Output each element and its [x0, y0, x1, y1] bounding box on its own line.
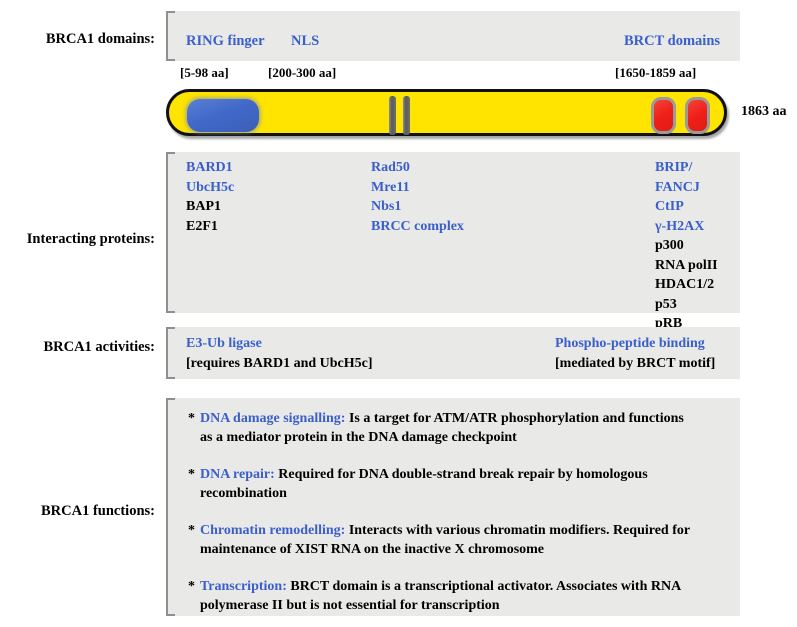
activity-title: E3-Ub ligase: [186, 334, 373, 354]
protein-item: Mre11: [371, 178, 464, 198]
function-bullet-marker: *: [188, 577, 195, 596]
protein-item: CtIP: [655, 197, 718, 217]
protein-item: γ-H2AX: [655, 217, 718, 237]
function-transcription: * Transcription: BRCT domain is a transc…: [188, 577, 723, 615]
function-title: Transcription:: [200, 579, 287, 594]
protein-item: Nbs1: [371, 197, 464, 217]
function-bullet-marker: *: [188, 409, 195, 428]
panel-bracket-functions: [166, 398, 175, 616]
panel-bracket-activities: [166, 327, 175, 379]
ring-finger-domain-shape: [187, 99, 259, 132]
activity-detail: [requires BARD1 and UbcH5c]: [186, 354, 373, 374]
function-chromatin-remodelling: * Chromatin remodelling: Interacts with …: [188, 521, 723, 559]
protein-item: FANCJ: [655, 178, 718, 198]
aa-range-brct: [1650-1859 aa]: [615, 65, 696, 81]
activity-title: Phospho-peptide binding: [555, 334, 715, 354]
function-bullet-marker: *: [188, 465, 195, 484]
function-title: DNA damage signalling:: [200, 411, 345, 426]
row-label-interacting-proteins: Interacting proteins:: [27, 231, 155, 248]
function-title: Chromatin remodelling:: [200, 523, 345, 538]
protein-item: BAP1: [186, 197, 234, 217]
protein-item: BARD1: [186, 158, 234, 178]
protein-item: HDAC1/2: [655, 275, 718, 295]
activity-detail: [mediated by BRCT motif]: [555, 354, 715, 374]
row-label-domains: BRCA1 domains:: [46, 31, 155, 48]
brca1-activities-panel: E3-Ub ligase [requires BARD1 and UbcH5c]…: [166, 327, 740, 379]
domain-name-brct: BRCT domains: [624, 33, 720, 50]
function-text-line2: polymerase II but is not essential for t…: [200, 598, 500, 613]
brca1-protein-backbone: [166, 89, 727, 136]
domain-name-ring-finger: RING finger: [186, 33, 265, 50]
function-text-line1: Required for DNA double-strand break rep…: [275, 467, 648, 482]
function-text-line2: recombination: [200, 486, 287, 501]
protein-column-1: BARD1 UbcH5c BAP1 E2F1: [186, 158, 234, 236]
aa-range-ring-finger: [5-98 aa]: [180, 65, 229, 81]
function-text-line1: Interacts with various chromatin modifie…: [345, 523, 690, 538]
function-text-line1: Is a target for ATM/ATR phosphorylation …: [345, 411, 683, 426]
protein-item: E2F1: [186, 217, 234, 237]
panel-bracket-interacting-proteins: [166, 152, 175, 313]
brca1-functions-panel: * DNA damage signalling: Is a target for…: [166, 398, 740, 616]
protein-column-2: Rad50 Mre11 Nbs1 BRCC complex: [371, 158, 464, 236]
brca1-domains-panel: RING finger NLS BRCT domains: [166, 11, 740, 61]
brct-domain-shape-left: [651, 97, 676, 134]
protein-item: Rad50: [371, 158, 464, 178]
aa-range-nls: [200-300 aa]: [268, 65, 336, 81]
protein-item: p300: [655, 236, 718, 256]
protein-item: BRIP/: [655, 158, 718, 178]
activity-e3-ub-ligase: E3-Ub ligase [requires BARD1 and UbcH5c]: [186, 334, 373, 374]
row-label-activities: BRCA1 activities:: [43, 339, 155, 356]
protein-length-label: 1863 aa: [741, 104, 787, 120]
domain-name-nls: NLS: [291, 33, 319, 50]
function-text-line2: as a mediator protein in the DNA damage …: [200, 430, 517, 445]
function-dna-damage-signalling: * DNA damage signalling: Is a target for…: [188, 409, 723, 447]
function-title: DNA repair:: [200, 467, 275, 482]
function-text-line2: maintenance of XIST RNA on the inactive …: [200, 542, 544, 557]
row-label-functions: BRCA1 functions:: [41, 503, 155, 520]
nls-domain-shape-left: [389, 96, 396, 135]
protein-item: UbcH5c: [186, 178, 234, 198]
function-dna-repair: * DNA repair: Required for DNA double-st…: [188, 465, 723, 503]
interacting-proteins-panel: BARD1 UbcH5c BAP1 E2F1 Rad50 Mre11 Nbs1 …: [166, 152, 740, 313]
protein-column-3: BRIP/ FANCJ CtIP γ-H2AX p300 RNA polII H…: [655, 158, 718, 334]
protein-item: p53: [655, 295, 718, 315]
activity-phospho-peptide-binding: Phospho-peptide binding [mediated by BRC…: [555, 334, 715, 374]
brct-domain-shape-right: [685, 97, 710, 134]
nls-domain-shape-right: [403, 96, 410, 135]
panel-bracket-domains: [166, 11, 175, 61]
function-bullet-marker: *: [188, 521, 195, 540]
function-text-line1: BRCT domain is a transcriptional activat…: [287, 579, 681, 594]
protein-item: BRCC complex: [371, 217, 464, 237]
protein-item: RNA polII: [655, 256, 718, 276]
